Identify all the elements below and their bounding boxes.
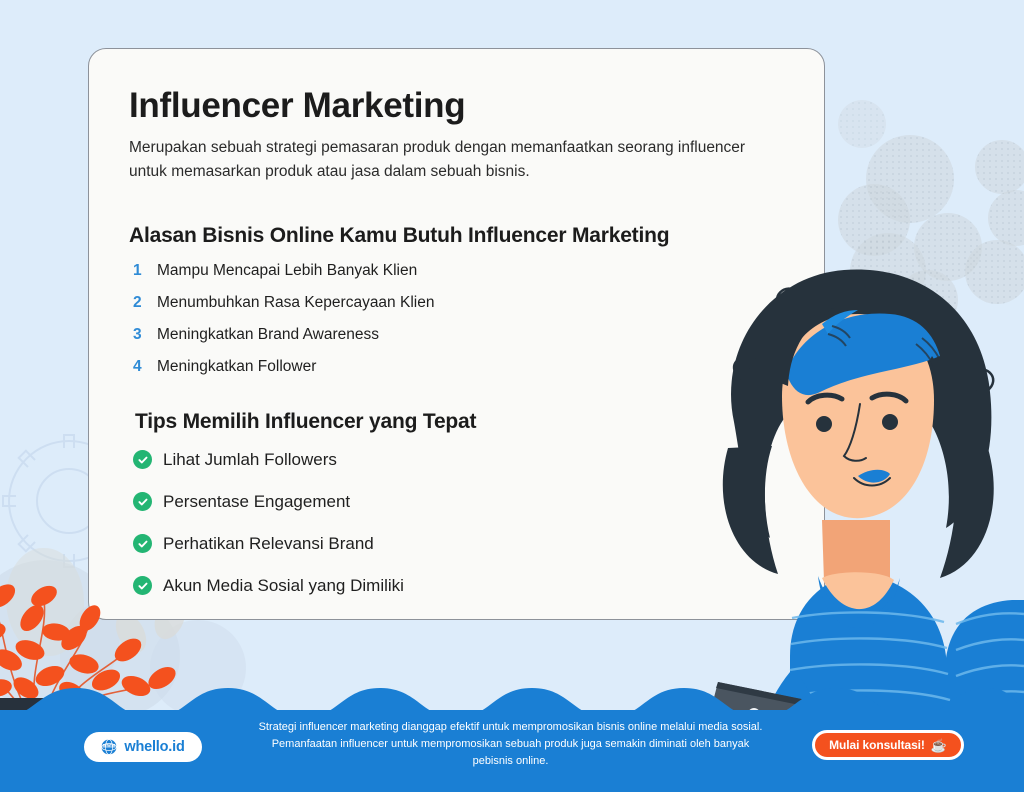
page-subtitle: Merupakan sebuah strategi pemasaran prod…	[129, 136, 774, 184]
list-item: 3 Meningkatkan Brand Awareness	[129, 326, 780, 344]
list-item-label: Menumbuhkan Rasa Kepercayaan Klien	[157, 294, 434, 312]
list-item: 2 Menumbuhkan Rasa Kepercayaan Klien	[129, 294, 780, 312]
list-item-label: Mampu Mencapai Lebih Banyak Klien	[157, 262, 417, 280]
page-title: Influencer Marketing	[129, 87, 780, 126]
start-consultation-button[interactable]: Mulai konsultasi! ☕	[812, 730, 964, 760]
tips-list: Lihat Jumlah Followers Persentase Engage…	[129, 450, 780, 596]
tips-heading: Tips Memilih Influencer yang Tepat	[135, 410, 780, 434]
check-circle-icon	[133, 450, 152, 469]
list-item-number: 3	[133, 326, 145, 344]
reasons-list: 1 Mampu Mencapai Lebih Banyak Klien 2 Me…	[129, 262, 780, 376]
list-item-label: Meningkatkan Follower	[157, 358, 316, 376]
brand-name: whello.id	[124, 739, 184, 755]
list-item: 4 Meningkatkan Follower	[129, 358, 780, 376]
list-item: Akun Media Sosial yang Dimiliki	[129, 576, 780, 596]
brand-logo[interactable]: www whello.id	[84, 732, 202, 762]
reasons-heading: Alasan Bisnis Online Kamu Butuh Influenc…	[129, 224, 780, 248]
globe-www-icon: www	[101, 739, 117, 755]
list-item-number: 1	[133, 262, 145, 280]
footer-description: Strategi influencer marketing dianggap e…	[258, 719, 763, 770]
list-item: Persentase Engagement	[129, 492, 780, 512]
cta-label: Mulai konsultasi!	[829, 738, 925, 752]
svg-text:www: www	[103, 743, 115, 748]
list-item-label: Meningkatkan Brand Awareness	[157, 326, 379, 344]
infographic-canvas: Influencer Marketing Merupakan sebuah st…	[0, 0, 1024, 792]
list-item-number: 2	[133, 294, 145, 312]
coffee-cup-icon: ☕	[931, 739, 947, 752]
list-item: Lihat Jumlah Followers	[129, 450, 780, 470]
list-item: 1 Mampu Mencapai Lebih Banyak Klien	[129, 262, 780, 280]
list-item-number: 4	[133, 358, 145, 376]
list-item-label: Lihat Jumlah Followers	[163, 450, 337, 470]
list-item: Perhatikan Relevansi Brand	[129, 534, 780, 554]
